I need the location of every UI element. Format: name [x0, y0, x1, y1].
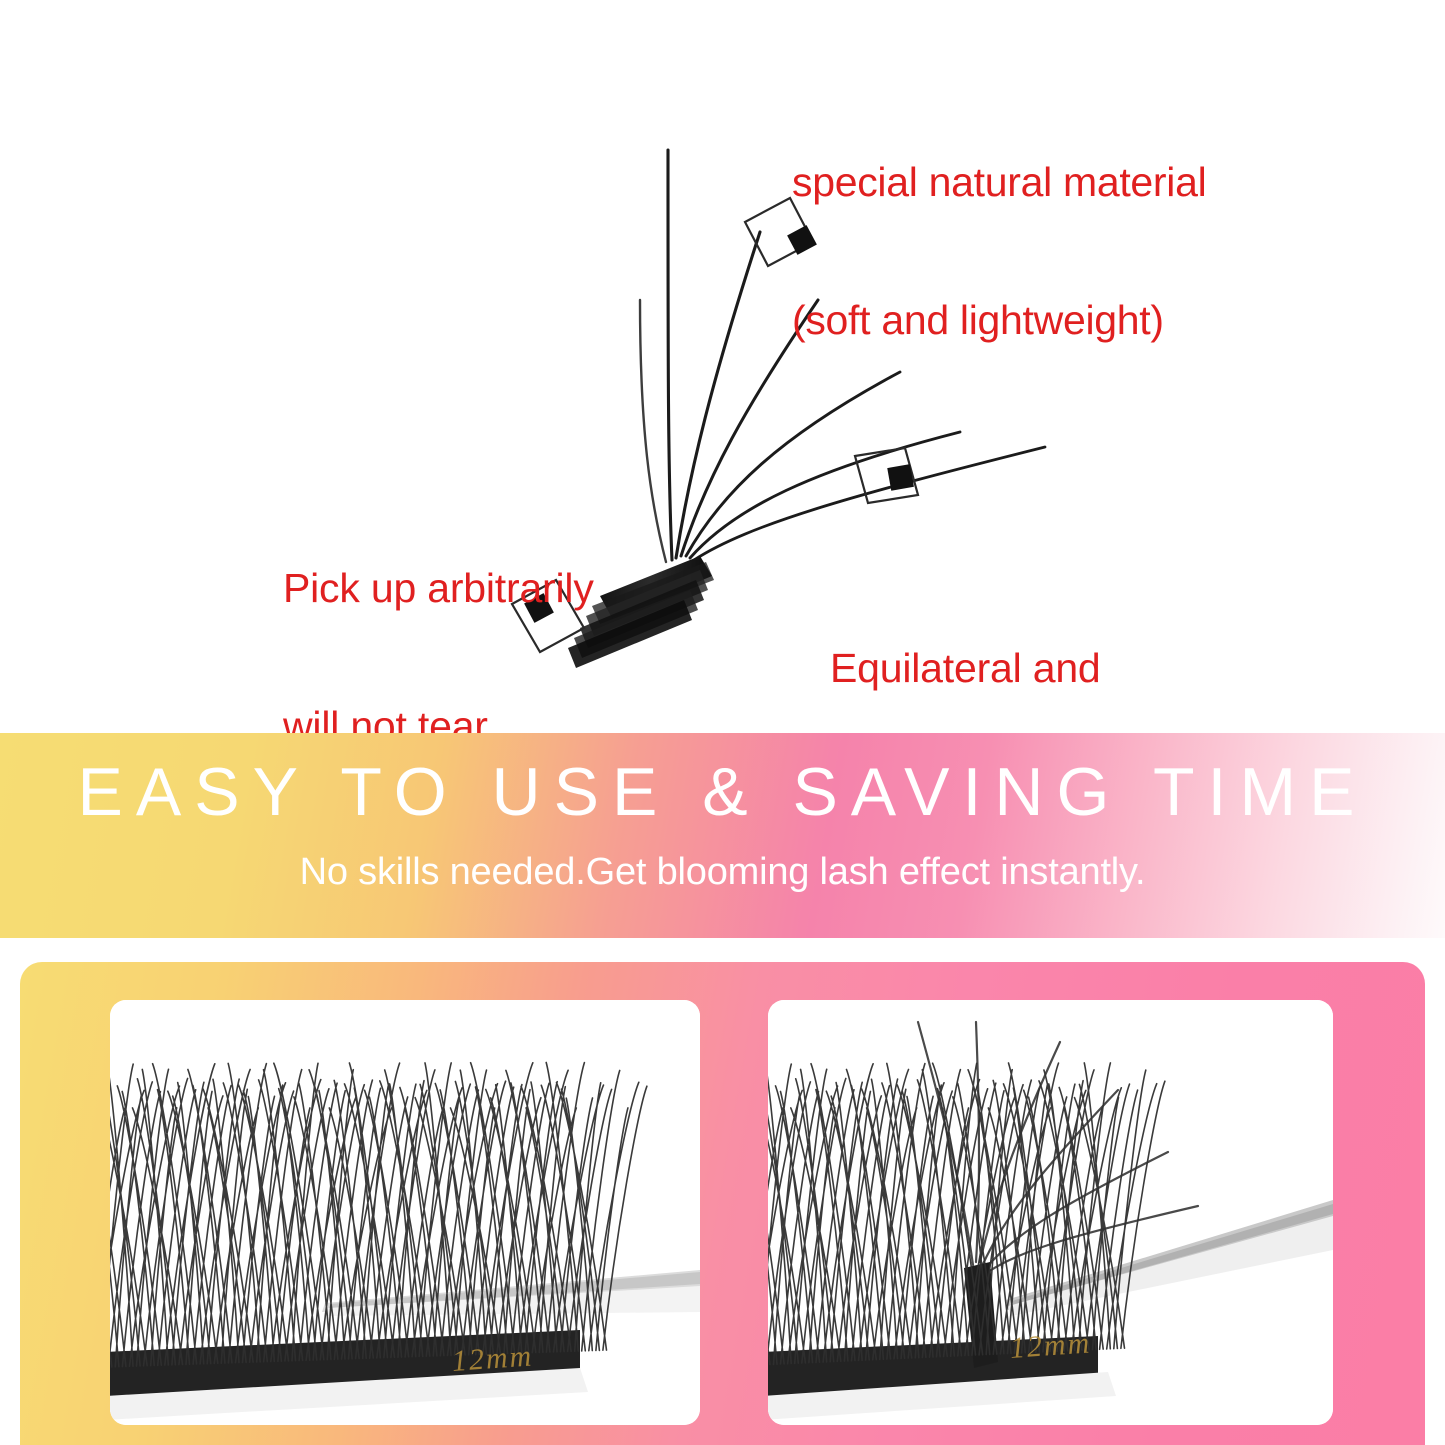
photo-caption-12mm-right: 12mm — [1009, 1326, 1093, 1366]
callout-special-material-line2: (soft and lightweight) — [792, 298, 1206, 344]
callout-special-material-line1: special natural material — [792, 160, 1206, 206]
photo-caption-12mm-left: 12mm — [451, 1339, 535, 1379]
callout-equilateral-line1: Equilateral and — [830, 646, 1265, 692]
top-feature-section: special natural material (soft and light… — [0, 0, 1445, 723]
photo-card-lash-tray — [110, 1000, 700, 1425]
callout-marker-middle-dot — [887, 464, 914, 491]
callout-special-material: special natural material (soft and light… — [792, 68, 1206, 435]
banner-subheadline: No skills needed.Get blooming lash effec… — [0, 851, 1445, 894]
banner-headline: EASY TO USE & SAVING TIME — [0, 753, 1445, 831]
photo-lash-overlay — [110, 1000, 700, 1425]
promo-banner: EASY TO USE & SAVING TIME No skills need… — [0, 733, 1445, 938]
callout-pick-up-line1: Pick up arbitrarily — [283, 566, 594, 612]
